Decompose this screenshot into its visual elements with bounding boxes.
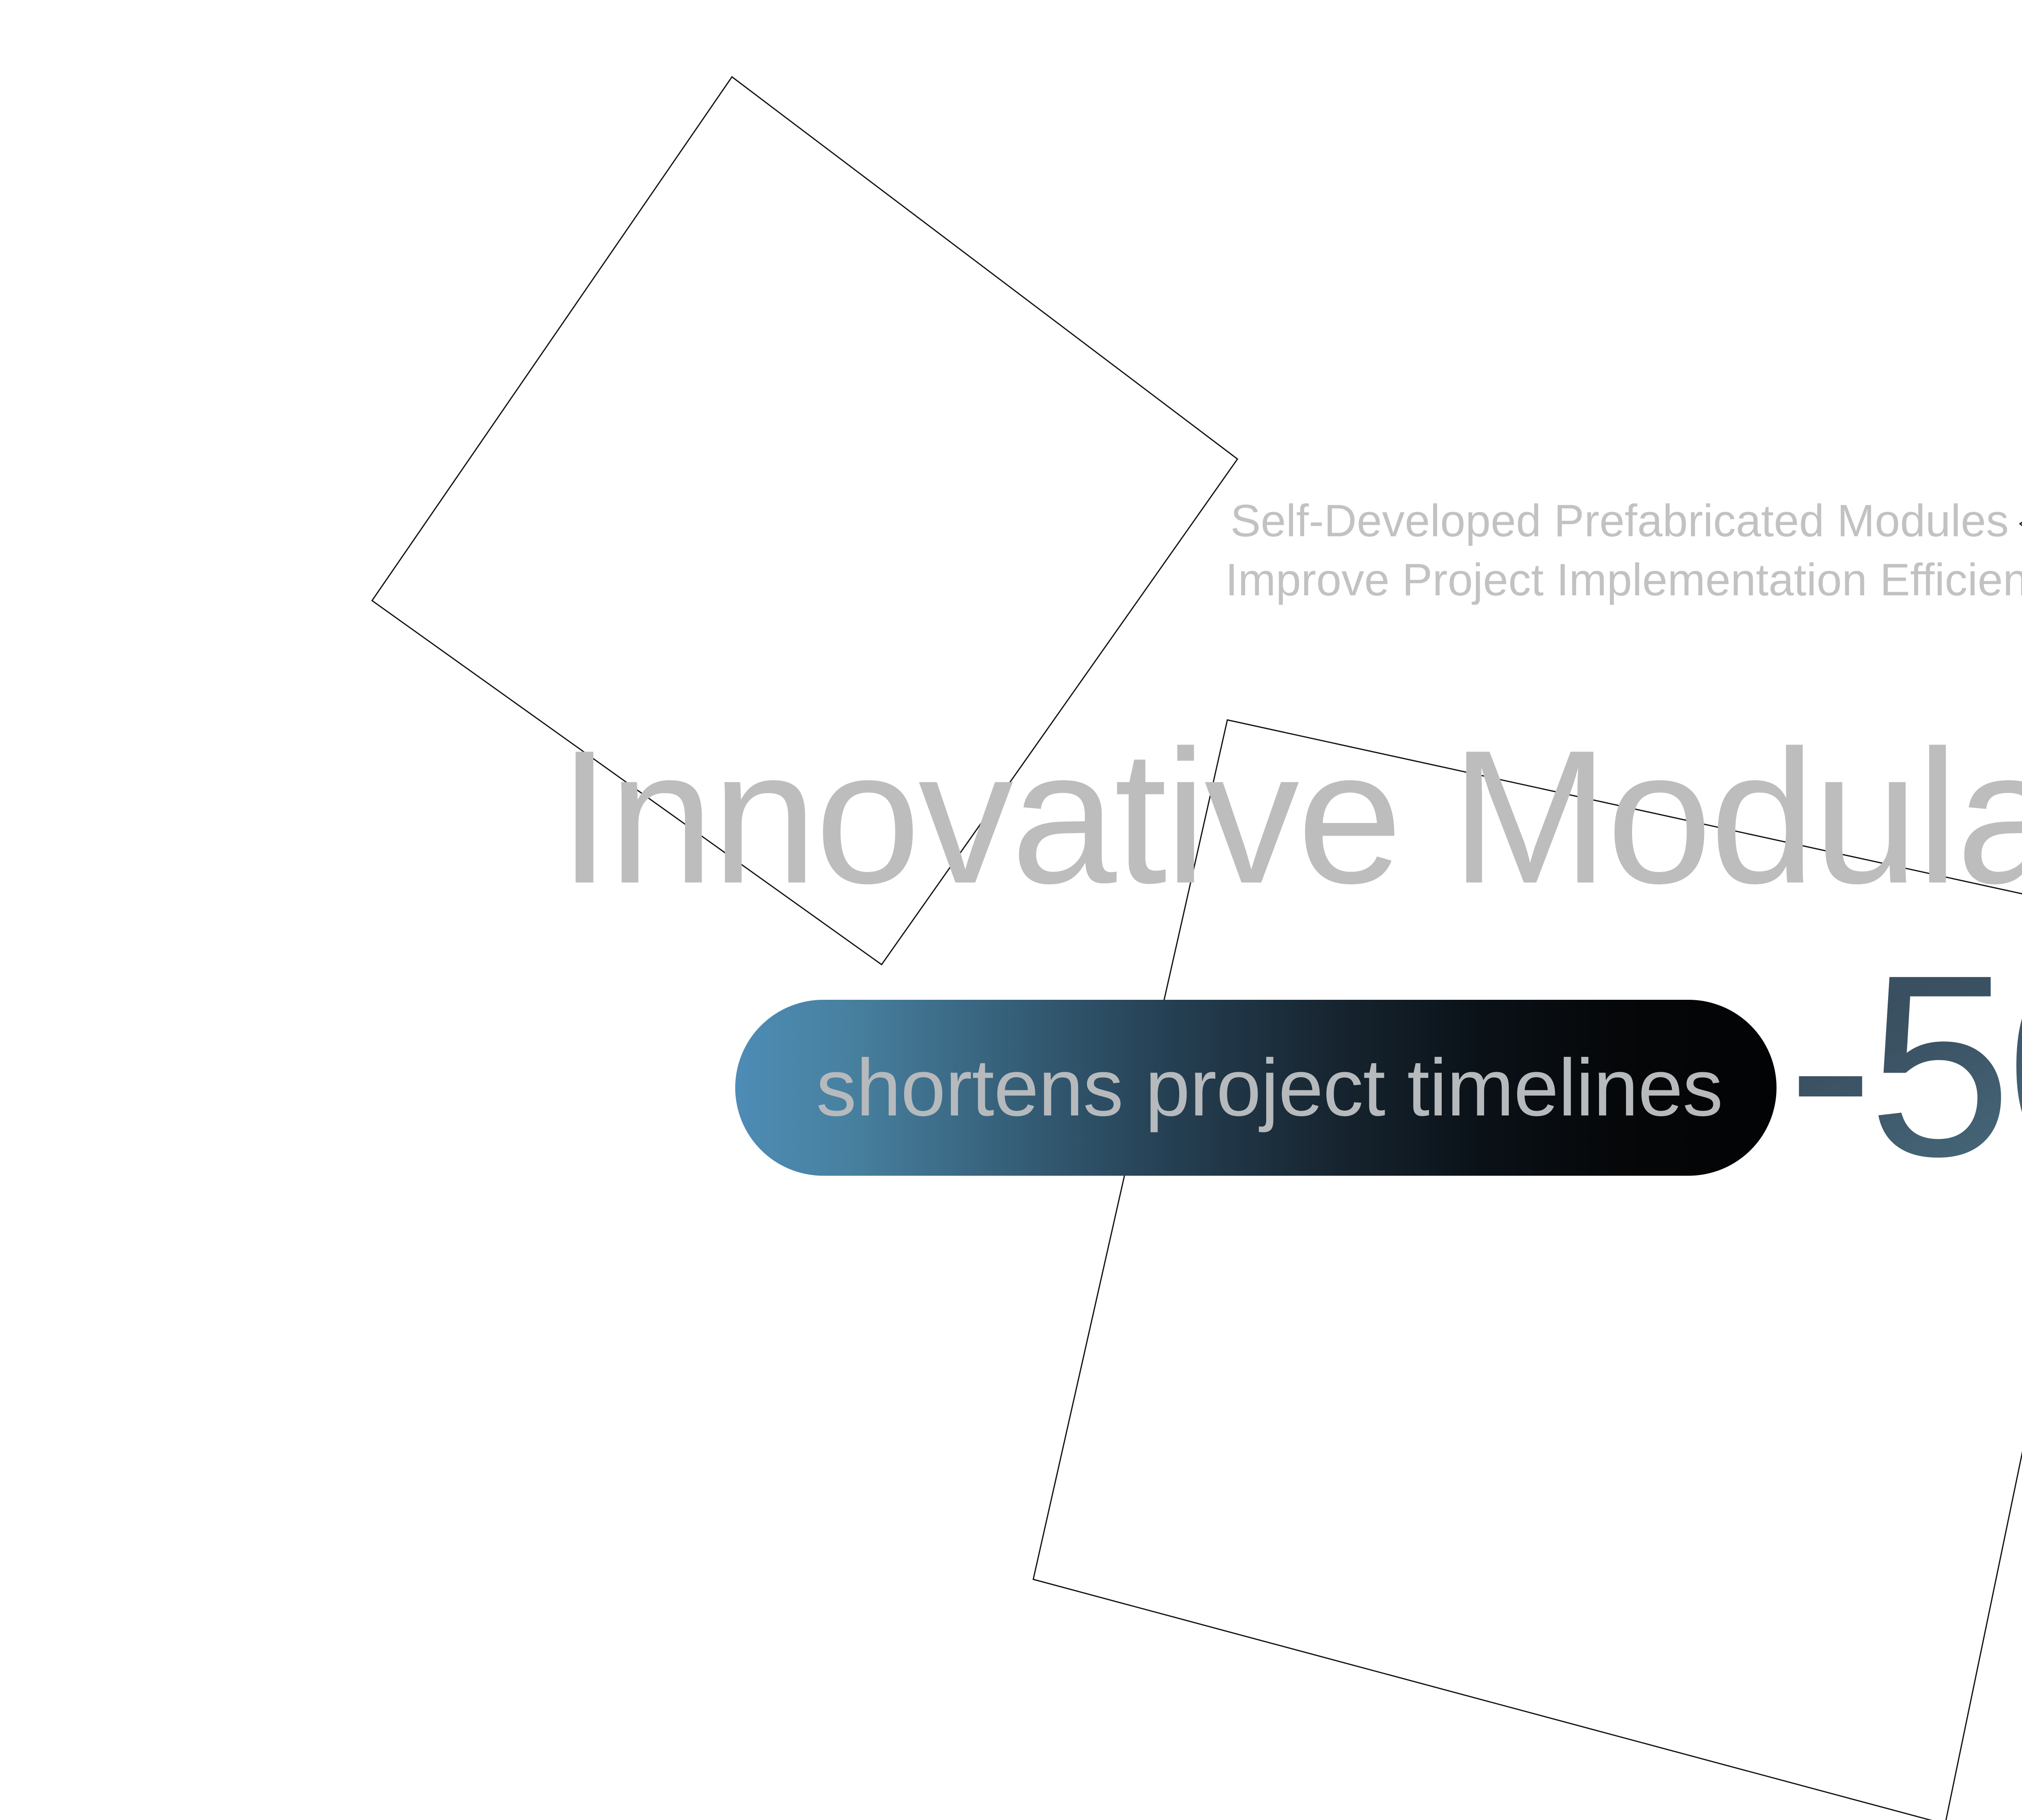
subtitle: Self-Developed Prefabricated Modules Imp… — [1225, 491, 2014, 609]
subtitle-line-2: Improve Project Implementation Efficienc… — [1225, 550, 2014, 609]
page-title: Innovative Modular Design — [558, 722, 2022, 912]
status-badge: shortens project timelines — [735, 1000, 1777, 1176]
status-badge-label: shortens project timelines — [735, 1041, 1723, 1134]
poster-canvas: Self-Developed Prefabricated Modules Imp… — [0, 0, 2022, 1820]
outline-frame-top-right — [2020, 311, 2022, 732]
stat-value: -50% — [1787, 936, 2022, 1195]
subtitle-line-1: Self-Developed Prefabricated Modules — [1225, 491, 2014, 550]
